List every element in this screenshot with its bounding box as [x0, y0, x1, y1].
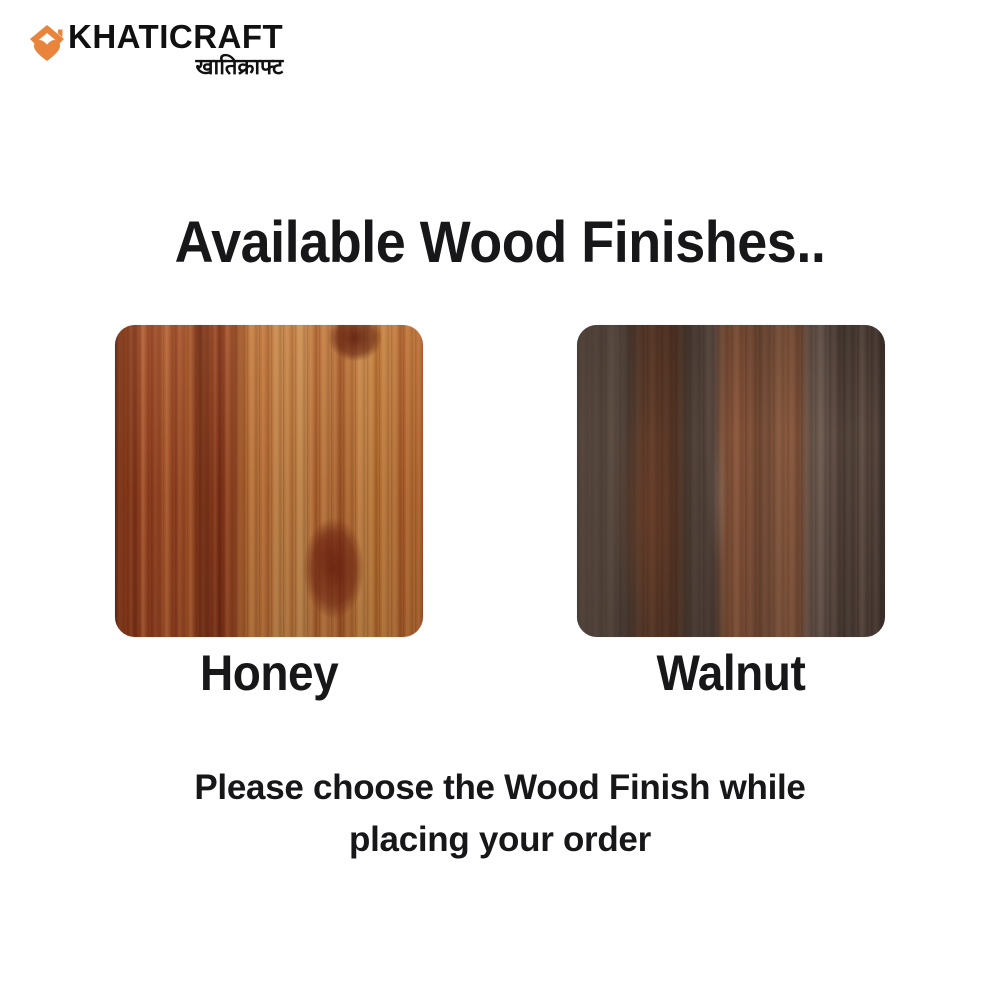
honey-wood-swatch[interactable]	[115, 325, 423, 637]
brand-name: KHATICRAFT	[68, 20, 283, 54]
finish-option-walnut[interactable]: Walnut	[577, 325, 885, 701]
finish-label-walnut: Walnut	[657, 645, 806, 701]
walnut-wood-swatch[interactable]	[577, 325, 885, 637]
brand-wordmark: KHATICRAFT खातिक्राफ्ट	[68, 20, 283, 81]
brand-name-devanagari: खातिक्राफ्ट	[68, 55, 283, 81]
walnut-knot-layer	[577, 325, 885, 637]
finish-label-honey: Honey	[200, 645, 338, 701]
house-heart-icon	[28, 22, 66, 64]
brand-header: KHATICRAFT खातिक्राफ्ट	[28, 20, 283, 81]
instruction-note-line-1: Please choose the Wood Finish while	[130, 762, 870, 814]
instruction-note-line-2: placing your order	[130, 814, 870, 866]
page-title: Available Wood Finishes..	[35, 212, 965, 274]
instruction-note: Please choose the Wood Finish while plac…	[130, 762, 870, 866]
honey-knot-layer	[115, 325, 423, 637]
finish-option-honey[interactable]: Honey	[115, 325, 423, 701]
wood-finish-options: Honey Walnut	[0, 325, 1000, 701]
